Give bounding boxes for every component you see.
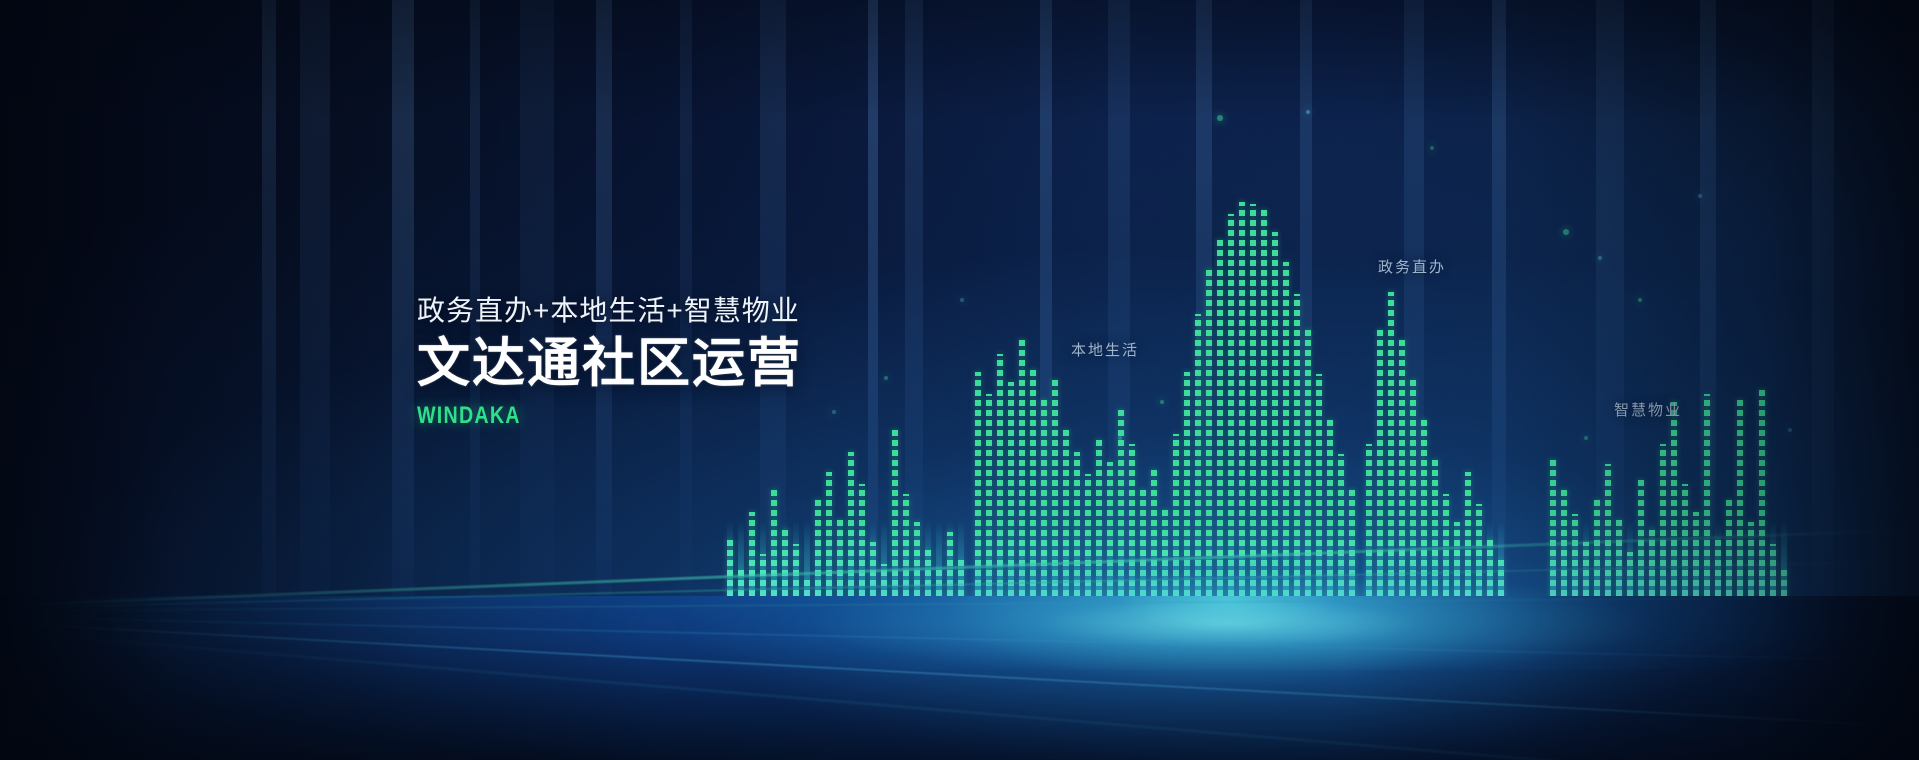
community-operation-banner: 本地生活政务直办智慧物业 政务直办+本地生活+智慧物业 文达通社区运营 WIND… — [0, 0, 1919, 760]
windaka-brand-logotype: WINDAKA — [417, 402, 843, 430]
city-label-1: 本地生活 — [1071, 339, 1139, 360]
perspective-ground — [0, 596, 1919, 760]
banner-headline: 文达通社区运营 — [417, 335, 937, 392]
banner-subtitle: 政务直办+本地生活+智慧物业 — [417, 293, 937, 328]
city-label-2: 政务直办 — [1378, 256, 1446, 277]
city-label-3: 智慧物业 — [1614, 399, 1682, 420]
headline-copy-block: 政务直办+本地生活+智慧物业 文达通社区运营 WINDAKA — [417, 293, 937, 430]
